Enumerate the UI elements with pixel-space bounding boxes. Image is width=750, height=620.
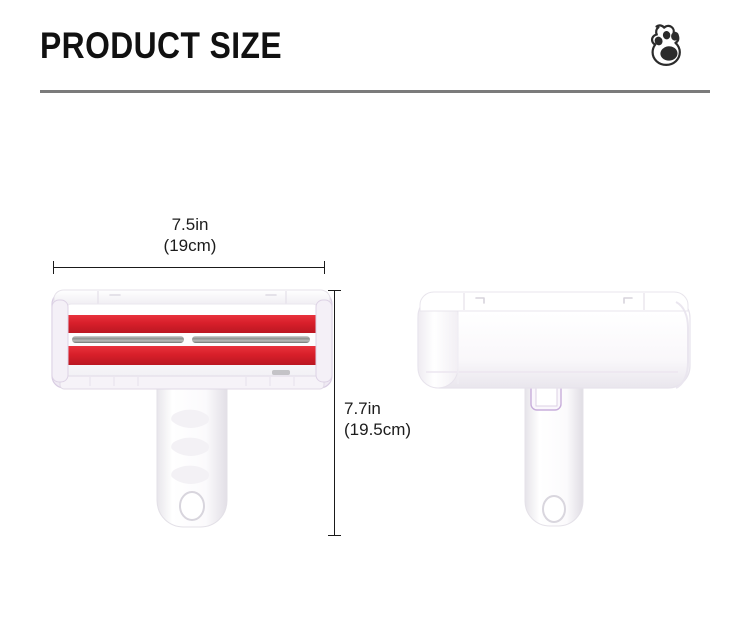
product-size-infographic: PRODUCT SIZE 7.5in (19cm) 7.7in (19.5cm) xyxy=(0,0,750,620)
product-image-roller-front xyxy=(50,282,334,552)
paw-print-icon xyxy=(636,20,692,76)
roller-head xyxy=(52,290,332,389)
width-dimension-label: 7.5in (19cm) xyxy=(110,214,270,256)
header-divider xyxy=(40,90,710,93)
roller-drum xyxy=(418,292,690,388)
width-metric-value: (19cm) xyxy=(110,235,270,256)
width-measurement-rule xyxy=(53,267,325,268)
page-title: PRODUCT SIZE xyxy=(40,24,282,68)
width-imperial-value: 7.5in xyxy=(110,214,270,235)
product-image-roller-back xyxy=(414,282,694,552)
height-measurement-rule xyxy=(334,290,335,536)
roller-handle xyxy=(157,377,227,527)
